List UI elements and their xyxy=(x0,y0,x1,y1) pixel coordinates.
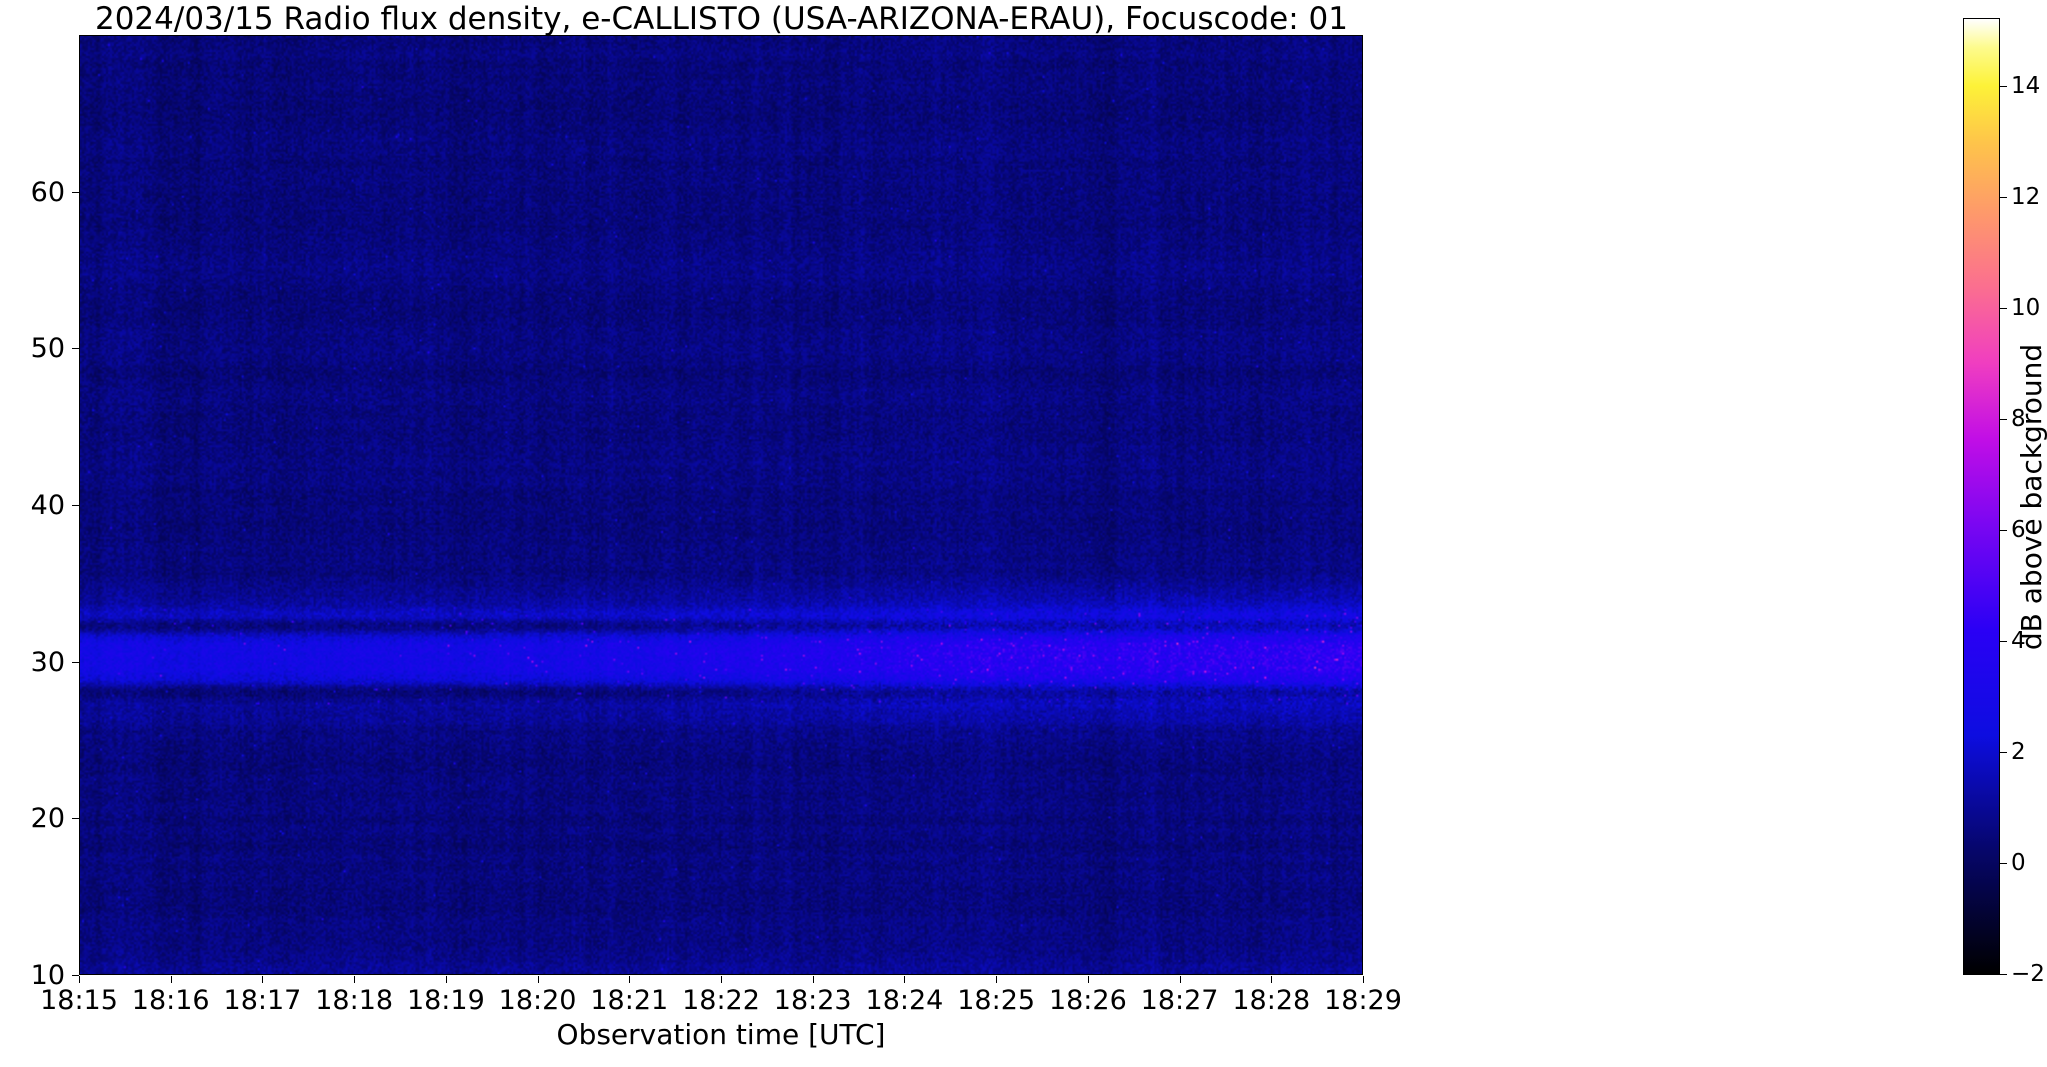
x-axis-tick xyxy=(996,976,997,983)
x-axis-tick-label: 18:29 xyxy=(1293,986,1433,1015)
colorbar-tick xyxy=(2000,863,2007,864)
page-title: 2024/03/15 Radio flux density, e-CALLIST… xyxy=(0,2,1443,36)
colorbar-tick xyxy=(2000,308,2007,309)
colorbar-tick xyxy=(2000,86,2007,87)
colorbar-tick-label: −2 xyxy=(2011,963,2045,986)
colorbar-gradient xyxy=(1964,19,1999,974)
y-axis-tick xyxy=(72,505,79,506)
spectrogram-plot-area xyxy=(79,35,1363,975)
figure-canvas: 2024/03/15 Radio flux density, e-CALLIST… xyxy=(0,0,2047,1067)
x-axis-tick xyxy=(1363,976,1364,983)
colorbar-tick-label: 0 xyxy=(2011,852,2026,875)
spectrogram-image xyxy=(80,36,1362,974)
x-axis-tick xyxy=(79,976,80,983)
x-axis-tick xyxy=(1088,976,1089,983)
colorbar-tick xyxy=(2000,752,2007,753)
y-axis-tick xyxy=(72,348,79,349)
x-axis-tick xyxy=(171,976,172,983)
y-axis-tick-label: 40 xyxy=(5,492,65,519)
y-axis-tick xyxy=(72,818,79,819)
x-axis-tick xyxy=(813,976,814,983)
colorbar-tick xyxy=(2000,530,2007,531)
colorbar-tick-label: 12 xyxy=(2011,186,2040,209)
colorbar-tick xyxy=(2000,974,2007,975)
x-axis-tick xyxy=(354,976,355,983)
colorbar-tick xyxy=(2000,197,2007,198)
colorbar-tick xyxy=(2000,419,2007,420)
x-axis-tick xyxy=(721,976,722,983)
y-axis-tick xyxy=(72,662,79,663)
y-axis-tick-label: 60 xyxy=(5,179,65,206)
x-axis-tick xyxy=(446,976,447,983)
y-axis-tick xyxy=(72,192,79,193)
colorbar-tick xyxy=(2000,641,2007,642)
x-axis-tick xyxy=(1271,976,1272,983)
colorbar-tick-label: 2 xyxy=(2011,741,2026,764)
colorbar-label: dB above background xyxy=(2017,344,2047,650)
colorbar-tick-label: 14 xyxy=(2011,75,2040,98)
colorbar-tick-label: 10 xyxy=(2011,297,2040,320)
x-axis-tick xyxy=(904,976,905,983)
y-axis-tick-label: 50 xyxy=(5,335,65,362)
y-axis: 102030405060 xyxy=(0,35,79,975)
y-axis-tick-label: 30 xyxy=(5,649,65,676)
x-axis-tick xyxy=(262,976,263,983)
x-axis-tick xyxy=(629,976,630,983)
y-axis-tick xyxy=(72,975,79,976)
spectrogram-raster xyxy=(80,36,1362,974)
y-axis-tick-label: 20 xyxy=(5,805,65,832)
x-axis-tick xyxy=(1180,976,1181,983)
x-axis-label: Observation time [UTC] xyxy=(79,1020,1363,1050)
x-axis-tick xyxy=(538,976,539,983)
colorbar xyxy=(1963,18,2000,975)
